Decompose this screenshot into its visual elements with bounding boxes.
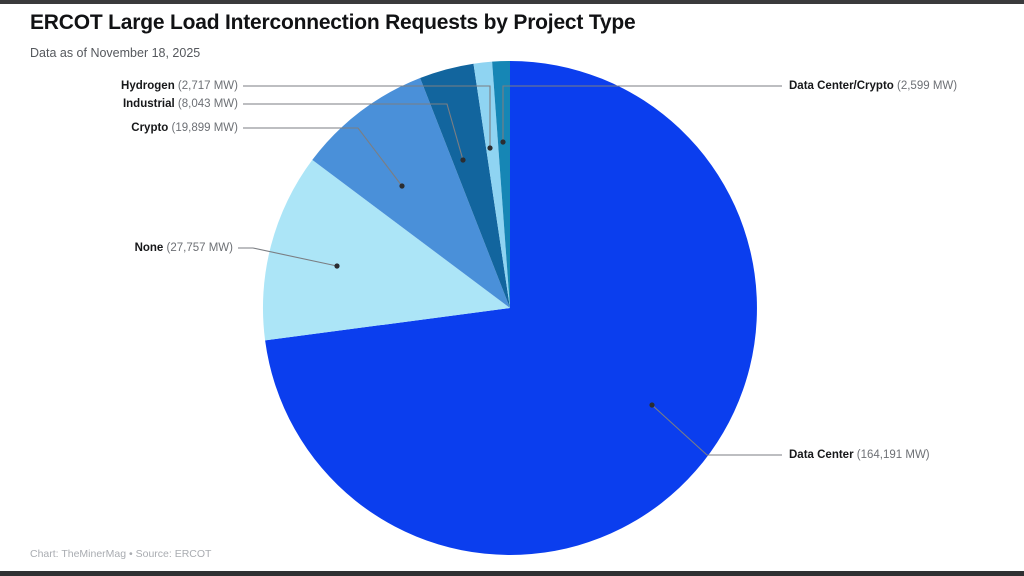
slice-label-industrial-name: Industrial: [123, 98, 175, 110]
slice-label-data-center-value: (164,191 MW): [857, 449, 930, 461]
leader-dot-data-center-crypto: [500, 139, 505, 144]
slice-label-hydrogen-name: Hydrogen: [121, 80, 175, 92]
slice-label-industrial-value: (8,043 MW): [178, 98, 238, 110]
slice-label-data-center-crypto-value: (2,599 MW): [897, 80, 957, 92]
leader-dot-none: [334, 263, 339, 268]
pie-slices: [263, 61, 757, 555]
slice-label-crypto-value: (19,899 MW): [172, 122, 238, 134]
leader-dot-industrial: [460, 157, 465, 162]
slice-label-crypto: Crypto (19,899 MW): [131, 121, 238, 135]
slice-label-hydrogen: Hydrogen (2,717 MW): [121, 79, 238, 93]
pie-chart-plot-area: Hydrogen (2,717 MW) Industrial (8,043 MW…: [0, 0, 1024, 576]
slice-label-none-name: None: [135, 242, 164, 254]
slice-label-data-center-crypto-name: Data Center/Crypto: [789, 80, 894, 92]
leader-dot-crypto: [399, 183, 404, 188]
chart-container: ERCOT Large Load Interconnection Request…: [0, 0, 1024, 576]
slice-label-hydrogen-value: (2,717 MW): [178, 80, 238, 92]
slice-label-none-value: (27,757 MW): [167, 242, 233, 254]
slice-label-crypto-name: Crypto: [131, 122, 168, 134]
leader-dot-hydrogen: [487, 145, 492, 150]
slice-label-data-center-crypto: Data Center/Crypto (2,599 MW): [789, 79, 957, 93]
slice-label-industrial: Industrial (8,043 MW): [123, 97, 238, 111]
slice-label-data-center: Data Center (164,191 MW): [789, 448, 930, 462]
slice-label-data-center-name: Data Center: [789, 449, 854, 461]
leader-dot-data-center: [649, 402, 654, 407]
slice-label-none: None (27,757 MW): [135, 241, 233, 255]
bottom-edge-band: [0, 571, 1024, 576]
chart-source-credit: Chart: TheMinerMag • Source: ERCOT: [30, 548, 211, 560]
